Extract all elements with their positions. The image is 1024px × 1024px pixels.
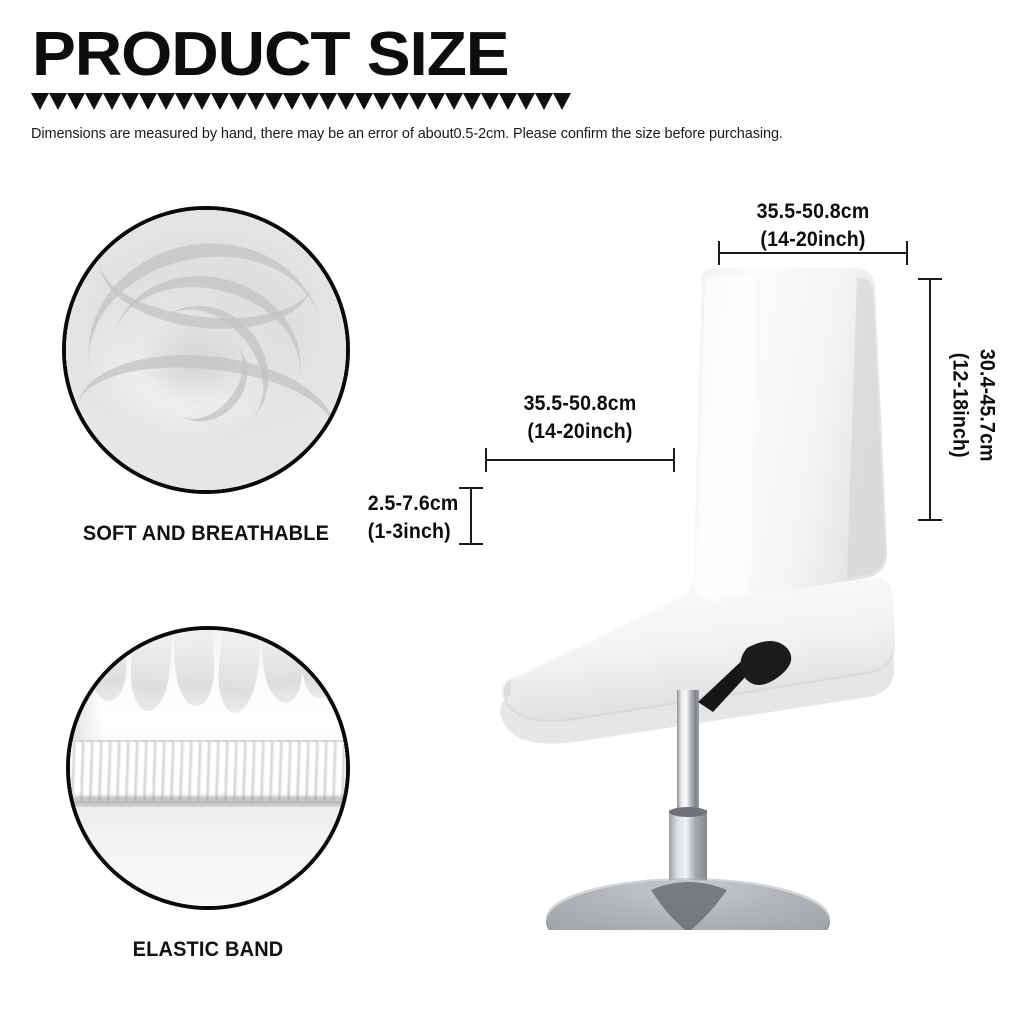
triangle-marker bbox=[247, 93, 265, 110]
triangle-marker bbox=[49, 93, 67, 110]
triangle-marker bbox=[391, 93, 409, 110]
triangle-marker bbox=[373, 93, 391, 110]
triangle-marker bbox=[463, 93, 481, 110]
dimension-value-inch: (14-20inch) bbox=[527, 420, 632, 443]
page-title: PRODUCT SIZE bbox=[32, 26, 509, 85]
fabric-texture bbox=[66, 210, 346, 490]
dimension-line-seat-thickness bbox=[470, 487, 472, 545]
feature-caption-soft-and-breathable: SOFT AND BREATHABLE bbox=[69, 522, 343, 546]
triangle-marker bbox=[337, 93, 355, 110]
dimension-line-seat-width bbox=[485, 459, 675, 461]
dimension-line-backrest-height bbox=[929, 278, 931, 521]
dimension-value-cm: 35.5-50.8cm bbox=[757, 200, 870, 223]
triangle-marker bbox=[499, 93, 517, 110]
triangle-marker bbox=[211, 93, 229, 110]
triangle-marker bbox=[517, 93, 535, 110]
product-size-infographic: PRODUCT SIZE Dimensions are measured by … bbox=[0, 0, 1024, 1024]
chrome-gas-cylinder bbox=[677, 690, 699, 820]
measurement-disclaimer: Dimensions are measured by hand, there m… bbox=[31, 126, 783, 142]
triangle-marker bbox=[481, 93, 499, 110]
dimension-label-seat-thickness: 2.5-7.6cm (1-3inch) bbox=[368, 490, 468, 545]
triangle-marker bbox=[121, 93, 139, 110]
triangle-marker bbox=[427, 93, 445, 110]
dimension-label-backrest-height: 30.4-45.7cm (12-18inch) bbox=[946, 340, 1001, 470]
feature-elastic-band: ELASTIC BAND bbox=[66, 626, 350, 910]
triangle-marker bbox=[175, 93, 193, 110]
triangle-marker bbox=[67, 93, 85, 110]
dimension-value-cm: 2.5-7.6cm bbox=[368, 492, 459, 515]
elastic-band-strip bbox=[66, 740, 350, 801]
triangle-marker bbox=[31, 93, 49, 110]
triangle-marker bbox=[301, 93, 319, 110]
triangle-marker bbox=[229, 93, 247, 110]
dimension-line-backrest-width bbox=[718, 252, 908, 254]
dimension-value-inch: (12-18inch) bbox=[948, 353, 971, 458]
feature-caption-elastic-band: ELASTIC BAND bbox=[73, 938, 343, 962]
triangle-marker bbox=[283, 93, 301, 110]
fabric-swirl-photo bbox=[62, 206, 350, 494]
triangle-marker bbox=[409, 93, 427, 110]
dimension-label-backrest-width: 35.5-50.8cm (14-20inch) bbox=[725, 198, 902, 253]
feature-soft-and-breathable: SOFT AND BREATHABLE bbox=[62, 206, 350, 494]
dimension-value-inch: (14-20inch) bbox=[760, 228, 865, 251]
dimension-value-inch: (1-3inch) bbox=[368, 520, 451, 543]
elastic-band-photo bbox=[66, 626, 350, 910]
triangle-divider bbox=[31, 93, 543, 113]
dimension-value-cm: 35.5-50.8cm bbox=[524, 392, 637, 415]
triangle-marker bbox=[157, 93, 175, 110]
dimension-value-cm: 30.4-45.7cm bbox=[975, 349, 998, 462]
triangle-marker bbox=[535, 93, 553, 110]
triangle-marker bbox=[319, 93, 337, 110]
triangle-marker bbox=[355, 93, 373, 110]
elastic-hem-texture bbox=[70, 630, 346, 906]
dimension-label-seat-width: 35.5-50.8cm (14-20inch) bbox=[492, 390, 669, 445]
triangle-marker bbox=[193, 93, 211, 110]
triangle-marker bbox=[445, 93, 463, 110]
chair-photo bbox=[455, 250, 955, 930]
triangle-marker bbox=[265, 93, 283, 110]
triangle-marker bbox=[103, 93, 121, 110]
triangle-marker bbox=[139, 93, 157, 110]
triangle-marker bbox=[85, 93, 103, 110]
triangle-marker bbox=[553, 93, 571, 110]
